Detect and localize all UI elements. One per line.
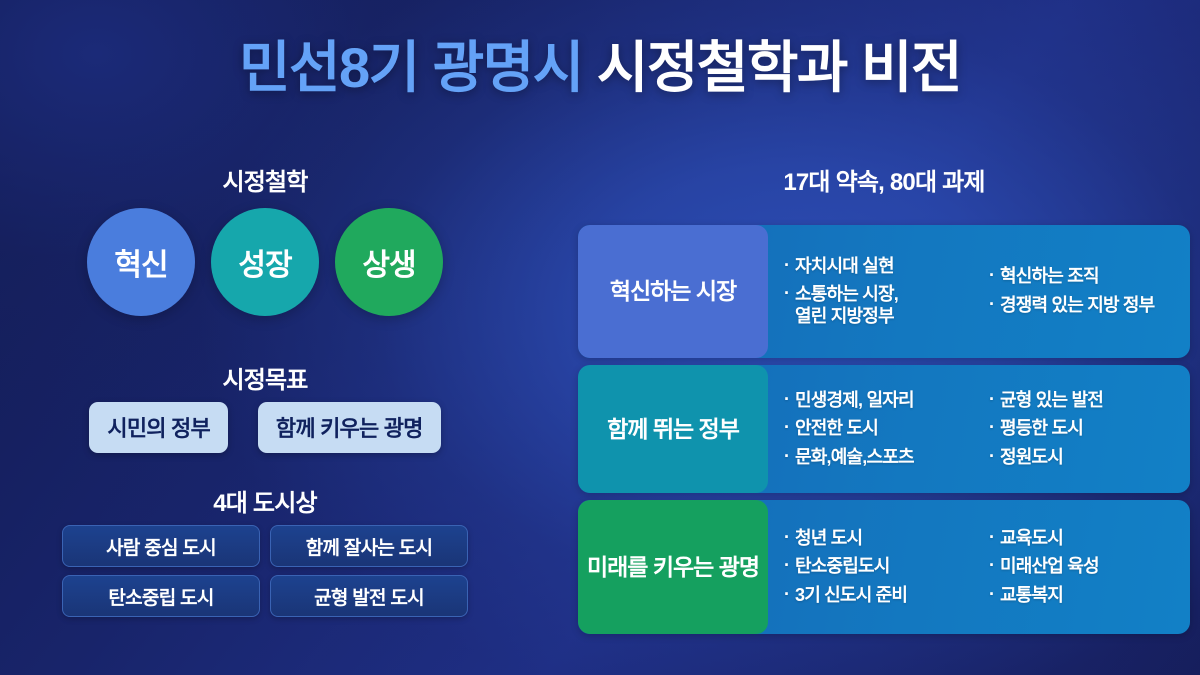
city-box-people-centered[interactable]: 사람 중심 도시: [62, 525, 260, 567]
right-column: 17대 약속, 80대 과제 혁신하는 시장 자치시대 실현 소통하는 시장, …: [530, 150, 1200, 650]
promise-items-left: 청년 도시 탄소중립도시 3기 신도시 준비: [784, 528, 989, 607]
promise-item[interactable]: 정원도시: [989, 447, 1184, 469]
philosophy-circle-innovation[interactable]: 혁신: [87, 208, 195, 316]
promise-item[interactable]: 3기 신도시 준비: [784, 585, 989, 607]
promise-label-innovative-mayor: 혁신하는 시장: [578, 225, 768, 358]
promise-items-left: 자치시대 실현 소통하는 시장, 열린 지방정부: [784, 256, 989, 328]
promise-items: 자치시대 실현 소통하는 시장, 열린 지방정부 혁신하는 조직 경쟁력 있는 …: [768, 225, 1190, 358]
promise-item[interactable]: 교통복지: [989, 585, 1184, 607]
promise-item[interactable]: 평등한 도시: [989, 418, 1184, 440]
title-main: 시정철학과 비전: [597, 36, 961, 99]
promise-label-future-gwangmyeong: 미래를 키우는 광명: [578, 500, 768, 634]
city-box-balanced-development[interactable]: 균형 발전 도시: [270, 575, 468, 617]
promise-item[interactable]: 혁신하는 조직: [989, 266, 1184, 288]
promise-items-left: 민생경제, 일자리 안전한 도시 문화,예술,스포츠: [784, 390, 989, 469]
promise-label-government-together: 함께 뛰는 정부: [578, 365, 768, 493]
goal-pill-row: 시민의 정부 함께 키우는 광명: [0, 402, 530, 453]
section-heading-promises: 17대 약속, 80대 과제: [578, 162, 1190, 197]
promise-item[interactable]: 안전한 도시: [784, 418, 989, 440]
city-box-prosper-together[interactable]: 함께 잘사는 도시: [270, 525, 468, 567]
city-vision-grid: 사람 중심 도시 함께 잘사는 도시 탄소중립 도시 균형 발전 도시: [0, 525, 530, 617]
promise-items-right: 균형 있는 발전 평등한 도시 정원도시: [989, 390, 1184, 469]
promise-item[interactable]: 청년 도시: [784, 528, 989, 550]
promise-item[interactable]: 경쟁력 있는 지방 정부: [989, 295, 1184, 317]
slide-canvas: 민선8기 광명시시정철학과 비전 시정철학 혁신 성장 상생 시정목표 시민의 …: [0, 0, 1200, 675]
promise-item[interactable]: 탄소중립도시: [784, 556, 989, 578]
section-heading-goal: 시정목표: [0, 360, 530, 395]
promise-item[interactable]: 균형 있는 발전: [989, 390, 1184, 412]
promise-item[interactable]: 문화,예술,스포츠: [784, 447, 989, 469]
title-prefix: 민선8기 광명시: [239, 36, 583, 99]
promise-items: 청년 도시 탄소중립도시 3기 신도시 준비 교육도시 미래산업 육성 교통복지: [768, 500, 1190, 634]
promise-items-right: 교육도시 미래산업 육성 교통복지: [989, 528, 1184, 607]
left-column: 시정철학 혁신 성장 상생 시정목표 시민의 정부 함께 키우는 광명 4대 도…: [0, 150, 530, 650]
philosophy-circle-growth[interactable]: 성장: [211, 208, 319, 316]
philosophy-circle-symbiosis[interactable]: 상생: [335, 208, 443, 316]
promise-item[interactable]: 미래산업 육성: [989, 556, 1184, 578]
page-title: 민선8기 광명시시정철학과 비전: [0, 40, 1200, 96]
promise-row-list: 혁신하는 시장 자치시대 실현 소통하는 시장, 열린 지방정부 혁신하는 조직…: [578, 225, 1190, 641]
promise-items: 민생경제, 일자리 안전한 도시 문화,예술,스포츠 균형 있는 발전 평등한 …: [768, 365, 1190, 493]
promise-item[interactable]: 교육도시: [989, 528, 1184, 550]
promise-row[interactable]: 함께 뛰는 정부 민생경제, 일자리 안전한 도시 문화,예술,스포츠 균형 있…: [578, 365, 1190, 493]
section-heading-philosophy: 시정철학: [0, 162, 530, 197]
promise-item[interactable]: 자치시대 실현: [784, 256, 989, 278]
promise-item[interactable]: 소통하는 시장, 열린 지방정부: [784, 284, 989, 327]
philosophy-circle-row: 혁신 성장 상생: [0, 208, 530, 316]
goal-pill-gwangmyeong[interactable]: 함께 키우는 광명: [258, 402, 441, 453]
promise-item[interactable]: 민생경제, 일자리: [784, 390, 989, 412]
promise-row[interactable]: 혁신하는 시장 자치시대 실현 소통하는 시장, 열린 지방정부 혁신하는 조직…: [578, 225, 1190, 358]
goal-pill-citizen-government[interactable]: 시민의 정부: [89, 402, 228, 453]
promise-items-right: 혁신하는 조직 경쟁력 있는 지방 정부: [989, 266, 1184, 316]
section-heading-city-vision: 4대 도시상: [0, 483, 530, 518]
promise-row[interactable]: 미래를 키우는 광명 청년 도시 탄소중립도시 3기 신도시 준비 교육도시 미…: [578, 500, 1190, 634]
city-box-carbon-neutral[interactable]: 탄소중립 도시: [62, 575, 260, 617]
